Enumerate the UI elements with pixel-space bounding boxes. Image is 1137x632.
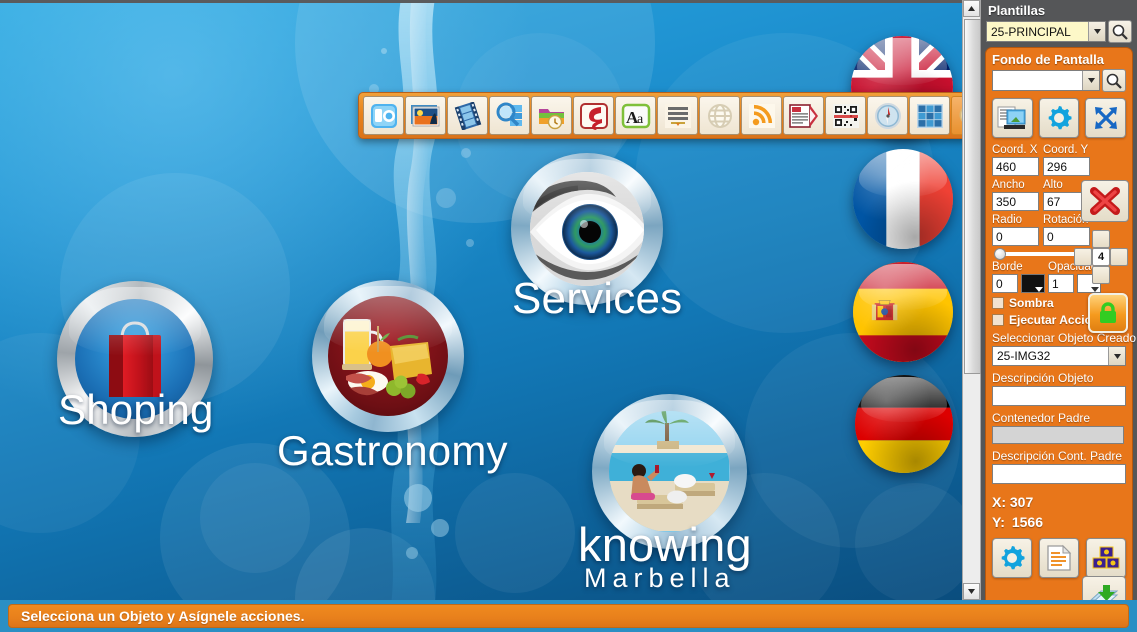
- coord-y-label: Coord. Y: [1043, 143, 1090, 157]
- templates-title: Plantillas: [984, 2, 1134, 20]
- bg-bubble: [200, 463, 310, 573]
- template-selector-row: 25-PRINCIPAL: [984, 20, 1134, 43]
- border-color-swatch[interactable]: [1021, 274, 1045, 293]
- insert-rss-button[interactable]: [741, 96, 782, 135]
- magnifier-icon: [1112, 24, 1128, 40]
- delete-button[interactable]: [1081, 180, 1129, 222]
- insert-qr-button[interactable]: [825, 96, 866, 135]
- menu-button-gastronomy[interactable]: [312, 280, 464, 432]
- desc-container-parent-input[interactable]: [992, 464, 1126, 484]
- object-action-row: [992, 98, 1126, 138]
- resize-button[interactable]: [1085, 98, 1126, 138]
- mouse-y-readout: Y: 1566: [992, 512, 1126, 532]
- desc-object-input[interactable]: [992, 386, 1126, 406]
- chevron-down-icon: [968, 589, 975, 594]
- document-button[interactable]: [1039, 538, 1079, 578]
- shapes-icon: [495, 102, 525, 130]
- gear-icon: [998, 544, 1026, 572]
- svg-text:a: a: [637, 112, 644, 127]
- bg-bubble: [295, 528, 435, 600]
- image-properties-button[interactable]: [992, 98, 1033, 138]
- ancho-input[interactable]: 350: [992, 192, 1039, 211]
- news-icon: [788, 102, 820, 130]
- document-lines-icon: [1046, 544, 1072, 572]
- arrows-expand-icon: [1092, 104, 1120, 132]
- menu-label-gastronomy: Gastronomy: [277, 427, 508, 475]
- thumbnail-grid-icon: [915, 102, 945, 130]
- object-properties-box: Fondo de Pantalla: [985, 47, 1133, 625]
- menu-label-shoping: Shoping: [58, 386, 214, 434]
- template-search-button[interactable]: [1108, 20, 1132, 43]
- canvas-vertical-scrollbar[interactable]: [962, 0, 981, 600]
- spain-flag-icon: [853, 262, 953, 362]
- config-button[interactable]: [992, 538, 1032, 578]
- pool-resort-icon: [609, 411, 729, 531]
- image-edit-icon: [997, 104, 1027, 132]
- nudge-up-button[interactable]: [1092, 230, 1110, 248]
- insert-gallery-button[interactable]: [405, 96, 446, 135]
- flash-icon: [579, 102, 609, 130]
- radio-label: Radio: [992, 213, 1039, 227]
- select-object-value: 25-IMG32: [997, 349, 1050, 363]
- photo-camera-icon: [369, 102, 399, 130]
- green-padlock-icon: [1097, 301, 1119, 325]
- font-aa-icon: A a: [621, 102, 651, 130]
- film-strip-icon: [453, 102, 483, 130]
- folder-clock-icon: [537, 102, 567, 130]
- wallpaper-title: Fondo de Pantalla: [992, 52, 1126, 69]
- nudge-right-button[interactable]: [1110, 248, 1128, 266]
- flag-france[interactable]: [853, 149, 953, 249]
- template-combo[interactable]: 25-PRINCIPAL: [986, 21, 1106, 42]
- gastronomy-inner: [328, 296, 448, 416]
- container-parent-label: Contenedor Padre: [992, 411, 1126, 425]
- coord-labels: Coord. X Coord. Y: [992, 143, 1126, 157]
- mouse-x-value: 307: [1010, 494, 1033, 510]
- compass-icon: [873, 102, 903, 130]
- mouse-coordinates: X: 307 Y: 1566: [992, 492, 1126, 532]
- france-flag-icon: [853, 149, 953, 249]
- properties-panel: Plantillas 25-PRINCIPAL Fondo de Pantall…: [981, 0, 1137, 600]
- container-parent-input: [992, 426, 1124, 444]
- eye-icon: [530, 172, 644, 286]
- status-bar: Selecciona un Objeto y Asígnele acciones…: [8, 604, 1129, 628]
- mouse-x-readout: X: 307: [992, 492, 1126, 512]
- opacity-slider-knob[interactable]: [994, 248, 1006, 260]
- insert-folder-button[interactable]: [531, 96, 572, 135]
- bg-bubble: [855, 483, 962, 600]
- insert-video-button[interactable]: [447, 96, 488, 135]
- ejecutar-acciones-checkbox[interactable]: [992, 314, 1004, 326]
- insert-flash-button[interactable]: [573, 96, 614, 135]
- coord-x-input[interactable]: 460: [992, 157, 1039, 176]
- chevron-down-icon[interactable]: [1082, 71, 1099, 90]
- insert-news-button[interactable]: [783, 96, 824, 135]
- magnifier-icon: [1106, 73, 1122, 89]
- nudge-dpad[interactable]: 4: [1074, 230, 1128, 284]
- insert-object-toolbar[interactable]: A a: [358, 92, 962, 139]
- sombra-label: Sombra: [1009, 296, 1054, 310]
- scroll-down-button[interactable]: [963, 583, 980, 600]
- flag-germany[interactable]: [855, 375, 953, 473]
- desc-object-label: Descripción Objeto: [992, 371, 1126, 385]
- borde-label: Borde: [992, 260, 1044, 274]
- menu-sublabel-marbella: Marbella: [584, 563, 736, 594]
- design-canvas[interactable]: Shoping: [0, 0, 962, 600]
- photo-stack-icon: [410, 102, 442, 130]
- knowing-inner: [609, 411, 730, 532]
- food-plate-icon: [328, 296, 448, 416]
- sombra-checkbox[interactable]: [992, 297, 1004, 309]
- application-window: Shoping: [0, 0, 1137, 632]
- rss-icon: [747, 102, 777, 130]
- qr-code-icon: [831, 102, 861, 130]
- insert-shape-button[interactable]: [489, 96, 530, 135]
- settings-button[interactable]: [1039, 98, 1080, 138]
- chevron-down-icon[interactable]: [1108, 347, 1125, 365]
- opacidad-input[interactable]: 1: [1048, 274, 1074, 293]
- multi-screen-icon: [1091, 544, 1121, 572]
- insert-paragraph-button[interactable]: [657, 96, 698, 135]
- insert-audio-button[interactable]: [951, 96, 962, 135]
- lock-button[interactable]: [1088, 293, 1128, 333]
- chevron-up-icon: [968, 6, 975, 11]
- insert-grid-button[interactable]: [909, 96, 950, 135]
- insert-text-button[interactable]: A a: [615, 96, 656, 135]
- wallpaper-row: [992, 69, 1126, 92]
- menu-label-services: Services: [512, 274, 682, 324]
- germany-flag-icon: [855, 375, 953, 473]
- screens-button[interactable]: [1086, 538, 1126, 578]
- coord-inputs: 460 296: [992, 157, 1126, 176]
- red-x-icon: [1088, 186, 1122, 216]
- insert-image-button[interactable]: [363, 96, 404, 135]
- services-inner: [530, 172, 644, 286]
- chevron-down-icon[interactable]: [1088, 22, 1105, 41]
- nudge-down-button[interactable]: [1092, 266, 1110, 284]
- mouse-y-label: Y:: [992, 514, 1005, 530]
- select-object-combo[interactable]: 25-IMG32: [992, 346, 1126, 366]
- status-message: Selecciona un Objeto y Asígnele acciones…: [21, 608, 304, 624]
- scrollbar-thumb[interactable]: [964, 19, 981, 374]
- desc-container-parent-label: Descripción Cont. Padre: [992, 449, 1126, 463]
- insert-compass-button[interactable]: [867, 96, 908, 135]
- bg-bubble: [455, 473, 575, 593]
- flag-spain[interactable]: [853, 262, 953, 362]
- scroll-up-button[interactable]: [963, 0, 980, 17]
- text-lines-icon: [663, 102, 693, 130]
- nudge-left-button[interactable]: [1074, 248, 1092, 266]
- select-object-label: Seleccionar Objeto Creado: [992, 331, 1126, 345]
- globe-icon: [705, 102, 735, 130]
- radio-input[interactable]: 0: [992, 227, 1039, 246]
- template-combo-value: 25-PRINCIPAL: [991, 25, 1071, 39]
- nudge-step-value[interactable]: 4: [1092, 248, 1110, 266]
- coord-y-input[interactable]: 296: [1043, 157, 1090, 176]
- ancho-label: Ancho: [992, 178, 1039, 192]
- wallpaper-search-button[interactable]: [1102, 69, 1126, 92]
- mouse-x-label: X:: [992, 494, 1006, 510]
- mouse-y-value: 1566: [1012, 514, 1043, 530]
- coord-x-label: Coord. X: [992, 143, 1039, 157]
- borde-input[interactable]: 0: [992, 274, 1018, 293]
- wallpaper-combo[interactable]: [992, 70, 1100, 91]
- insert-web-button[interactable]: [699, 96, 740, 135]
- gear-icon: [1045, 104, 1073, 132]
- panel-footer-buttons: [992, 538, 1126, 578]
